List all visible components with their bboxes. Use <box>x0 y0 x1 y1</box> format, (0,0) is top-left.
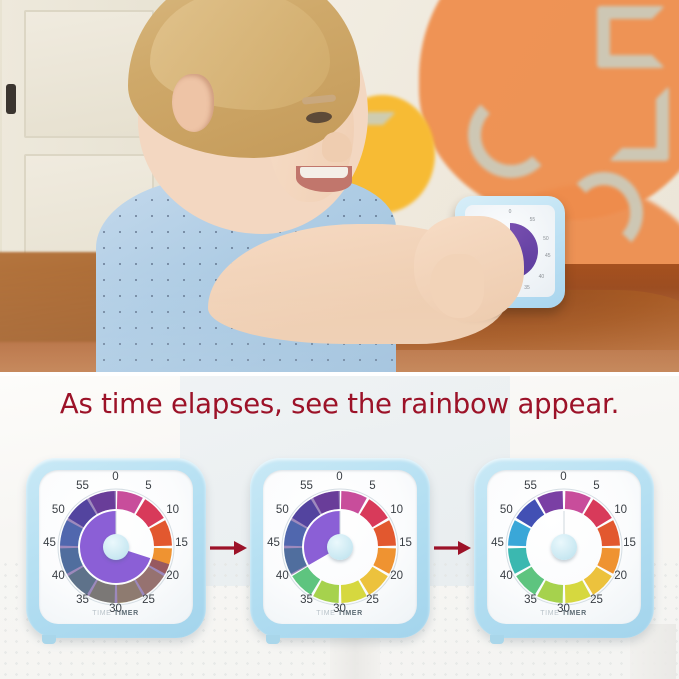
boy-thumb <box>430 254 484 318</box>
dial-segment-5 <box>135 499 163 527</box>
timer-face: 0510152025303540455055 TIME TIMER <box>39 470 193 624</box>
right-arrow-icon <box>430 533 474 563</box>
page-root: 0 5 55 50 45 40 35 30 As time elapses, s… <box>0 0 679 679</box>
dial-tick-25: 25 <box>366 594 379 606</box>
photo-tick-40: 40 <box>539 274 545 280</box>
dial-tick-25: 25 <box>142 594 155 606</box>
dial-tick-20: 20 <box>614 570 627 582</box>
dial-tick-35: 35 <box>524 594 537 606</box>
logo-timer: TIMER <box>562 610 587 617</box>
dial-tick-0: 0 <box>336 471 342 483</box>
mural-squiggle-4 <box>468 92 554 178</box>
boy-teeth <box>300 167 348 178</box>
dial-tick-35: 35 <box>300 594 313 606</box>
photo-tick-55: 55 <box>530 217 536 223</box>
dial-tick-45: 45 <box>43 537 56 549</box>
dial-tick-0: 0 <box>112 471 118 483</box>
dial-tick-25: 25 <box>590 594 603 606</box>
dial-tick-40: 40 <box>500 570 513 582</box>
dial-tick-40: 40 <box>52 570 65 582</box>
boy-ear <box>172 74 214 132</box>
dial-tick-20: 20 <box>166 570 179 582</box>
mural-squiggle-5 <box>565 172 643 254</box>
dial-tick-5: 5 <box>145 480 151 492</box>
logo-time: TIME <box>316 610 335 617</box>
dial-tick-35: 35 <box>76 594 89 606</box>
section-divider <box>0 372 679 376</box>
dial-segment-50 <box>516 499 544 527</box>
timer-foot <box>490 635 504 644</box>
brand-logo: TIME TIMER <box>92 610 138 617</box>
dial-tick-50: 50 <box>500 504 513 516</box>
dial-tick-10: 10 <box>614 504 627 516</box>
timer-sequence: 0510152025303540455055 TIME TIMER <box>0 448 679 648</box>
dial-tick-10: 10 <box>390 504 403 516</box>
dial-segment-35 <box>516 567 544 595</box>
dial-tick-55: 55 <box>300 480 313 492</box>
photo-tick-35: 35 <box>524 285 530 291</box>
timer-foot <box>266 635 280 644</box>
right-arrow-icon <box>206 533 250 563</box>
dial-segment-5 <box>583 499 611 527</box>
dial-tick-15: 15 <box>399 537 412 549</box>
dial-tick-50: 50 <box>52 504 65 516</box>
dial-segment-5 <box>359 499 387 527</box>
lower-panel: As time elapses, see the rainbow appear.… <box>0 376 679 679</box>
page-headline: As time elapses, see the rainbow appear. <box>0 388 679 420</box>
dial-tick-55: 55 <box>524 480 537 492</box>
brand-logo: TIME TIMER <box>316 610 362 617</box>
timer-stage-2[interactable]: 0510152025303540455055 TIME TIMER <box>250 458 430 638</box>
dial-tick-15: 15 <box>623 537 636 549</box>
mural-squiggle-2 <box>609 86 669 161</box>
timer-knob[interactable] <box>327 534 353 560</box>
boy-nose <box>322 132 352 162</box>
dial-tick-0: 0 <box>560 471 566 483</box>
dial-tick-45: 45 <box>267 537 280 549</box>
mural-squiggle-1 <box>597 6 665 68</box>
dial-segment-20 <box>583 567 611 595</box>
dial-tick-5: 5 <box>369 480 375 492</box>
dial-tick-10: 10 <box>166 504 179 516</box>
dial-segment-20 <box>359 567 387 595</box>
timer-face: 0510152025303540455055 TIME TIMER <box>487 470 641 624</box>
timer-face: 0510152025303540455055 TIME TIMER <box>263 470 417 624</box>
arrow-2 <box>430 533 474 563</box>
dial-tick-50: 50 <box>276 504 289 516</box>
dial-tick-5: 5 <box>593 480 599 492</box>
logo-timer: TIMER <box>338 610 363 617</box>
arrow-1 <box>206 533 250 563</box>
dial-tick-45: 45 <box>491 537 504 549</box>
dial-tick-15: 15 <box>175 537 188 549</box>
timer-knob[interactable] <box>551 534 577 560</box>
timer-knob[interactable] <box>103 534 129 560</box>
logo-timer: TIMER <box>114 610 139 617</box>
timer-stage-1[interactable]: 0510152025303540455055 TIME TIMER <box>26 458 206 638</box>
brand-logo: TIME TIMER <box>540 610 586 617</box>
door-handle <box>6 84 16 114</box>
logo-time: TIME <box>540 610 559 617</box>
dial-tick-55: 55 <box>76 480 89 492</box>
photo-tick-50: 50 <box>543 236 549 242</box>
photo-tick-0: 0 <box>509 209 512 215</box>
photo-tick-45: 45 <box>545 253 551 259</box>
logo-time: TIME <box>92 610 111 617</box>
hero-photo: 0 5 55 50 45 40 35 30 <box>0 0 679 372</box>
timer-foot <box>42 635 56 644</box>
dial-tick-20: 20 <box>390 570 403 582</box>
dial-tick-40: 40 <box>276 570 289 582</box>
timer-stage-3[interactable]: 0510152025303540455055 TIME TIMER <box>474 458 654 638</box>
